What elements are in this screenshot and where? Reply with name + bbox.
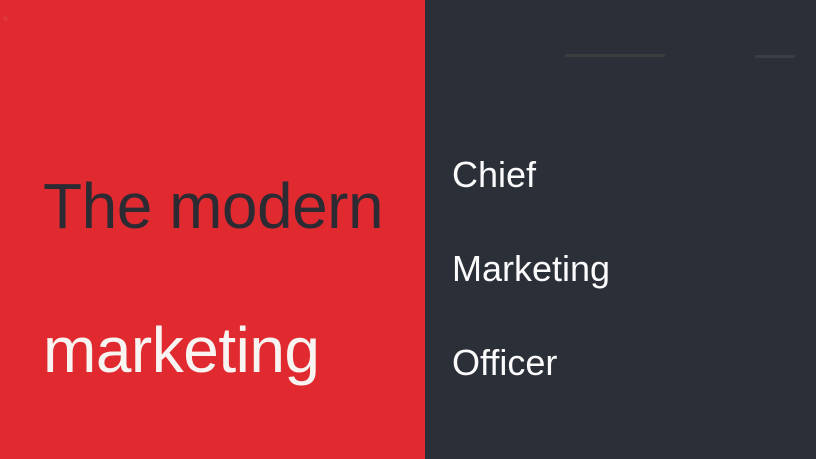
headline-line-2: marketing — [43, 314, 413, 386]
left-red-panel: The modern marketing mandate — [0, 0, 425, 459]
role-title-line-1: Chief — [452, 151, 752, 198]
role-title-line-2: Marketing — [452, 245, 752, 292]
headline-line-1: The modern — [43, 170, 413, 242]
slide-headline: The modern marketing mandate — [43, 98, 413, 459]
divider-rule-secondary — [755, 55, 795, 58]
corner-speck-icon — [3, 16, 8, 21]
slide-canvas: The modern marketing mandate Chief Marke… — [0, 0, 816, 459]
right-dark-panel: Chief Marketing Officer — [425, 0, 816, 459]
role-title: Chief Marketing Officer — [452, 104, 752, 433]
divider-rule-primary — [565, 54, 665, 57]
role-title-line-3: Officer — [452, 339, 752, 386]
